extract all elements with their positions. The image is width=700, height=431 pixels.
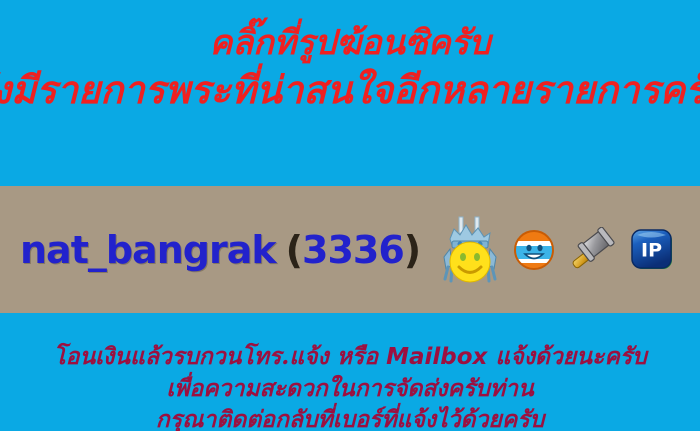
feedback-close-paren: ) — [404, 228, 420, 272]
promo-headline-line-1: คลิ๊กที่รูปฆ้อนซิครับ — [210, 26, 491, 62]
seller-username-link[interactable]: nat_bangrak — [20, 228, 276, 272]
seller-feedback-score[interactable]: (3336) — [286, 228, 421, 272]
seller-badge-group: IP — [442, 215, 676, 285]
gavel-icon[interactable] — [570, 227, 616, 273]
note-line-1-pre: โอนเงินแล้วรบกวนโทร.แจ้ง หรือ — [53, 343, 386, 370]
page-root: คลิ๊กที่รูปฆ้อนซิครับ ยังมีรายการพระที่น… — [0, 0, 700, 431]
promo-headline-line-2: ยังมีรายการพระที่น่าสนใจอีกหลายรายการครั… — [0, 70, 700, 110]
striped-smiley-icon[interactable] — [512, 228, 556, 272]
ip-button-icon[interactable]: IP — [630, 227, 676, 273]
note-line-1: โอนเงินแล้วรบกวนโทร.แจ้ง หรือ Mailbox แจ… — [53, 341, 646, 373]
note-line-2: เพื่อความสะดวกในการจัดส่งครับท่าน — [166, 373, 533, 404]
feedback-count-value: 3336 — [302, 228, 404, 272]
note-line-1-post: แจ้งด้วยนะครับ — [487, 343, 646, 370]
note-mailbox-word: Mailbox — [386, 344, 487, 370]
seller-banner: nat_bangrak (3336) — [0, 186, 700, 313]
crowned-smiley-icon[interactable] — [442, 215, 498, 285]
feedback-open-paren: ( — [286, 228, 302, 272]
promo-banner-top: คลิ๊กที่รูปฆ้อนซิครับ ยังมีรายการพระที่น… — [0, 0, 700, 186]
ip-button-label: IP — [641, 239, 662, 261]
note-banner-bottom: โอนเงินแล้วรบกวนโทร.แจ้ง หรือ Mailbox แจ… — [0, 313, 700, 431]
note-line-3: กรุณาติดต่อกลับที่เบอร์ที่แจ้งไว้ด้วยครั… — [156, 404, 544, 431]
